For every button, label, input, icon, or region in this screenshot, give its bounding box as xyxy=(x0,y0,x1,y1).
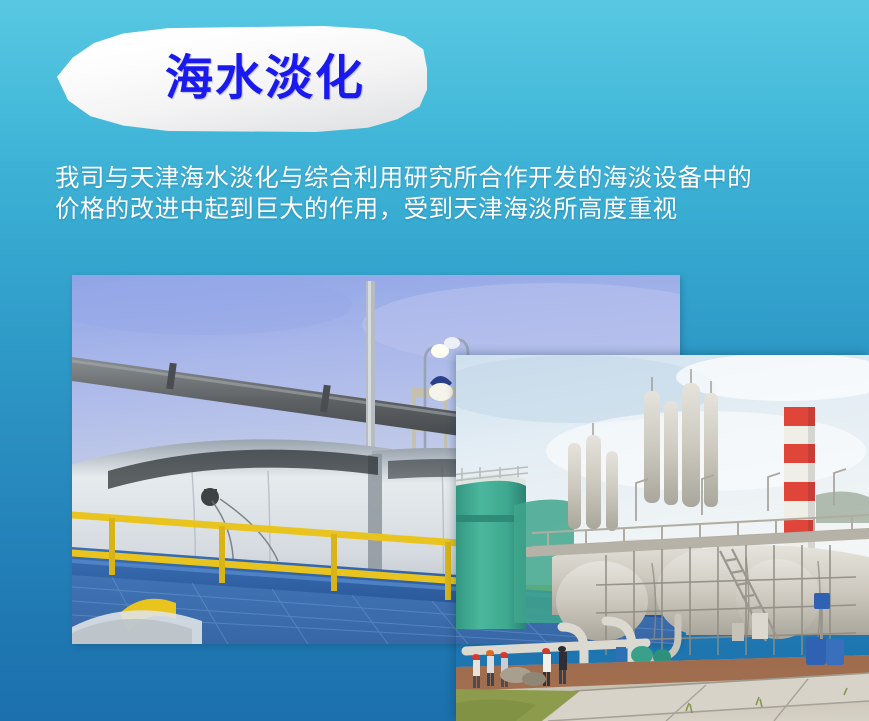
title-badge: 海水淡化 xyxy=(57,26,427,132)
slide-root: 海水淡化 我司与天津海水淡化与综合利用研究所合作开发的海淡设备中的 价格的改进中… xyxy=(0,0,869,721)
desalination-plant-artwork xyxy=(456,355,869,721)
page-title: 海水淡化 xyxy=(57,55,427,103)
body-paragraph: 我司与天津海水淡化与综合利用研究所合作开发的海淡设备中的 价格的改进中起到巨大的… xyxy=(55,163,869,225)
body-line-1: 我司与天津海水淡化与综合利用研究所合作开发的海淡设备中的 xyxy=(55,163,869,194)
desalination-plant-photo xyxy=(456,355,869,721)
body-line-2: 价格的改进中起到巨大的作用，受到天津海淡所高度重视 xyxy=(55,194,869,225)
